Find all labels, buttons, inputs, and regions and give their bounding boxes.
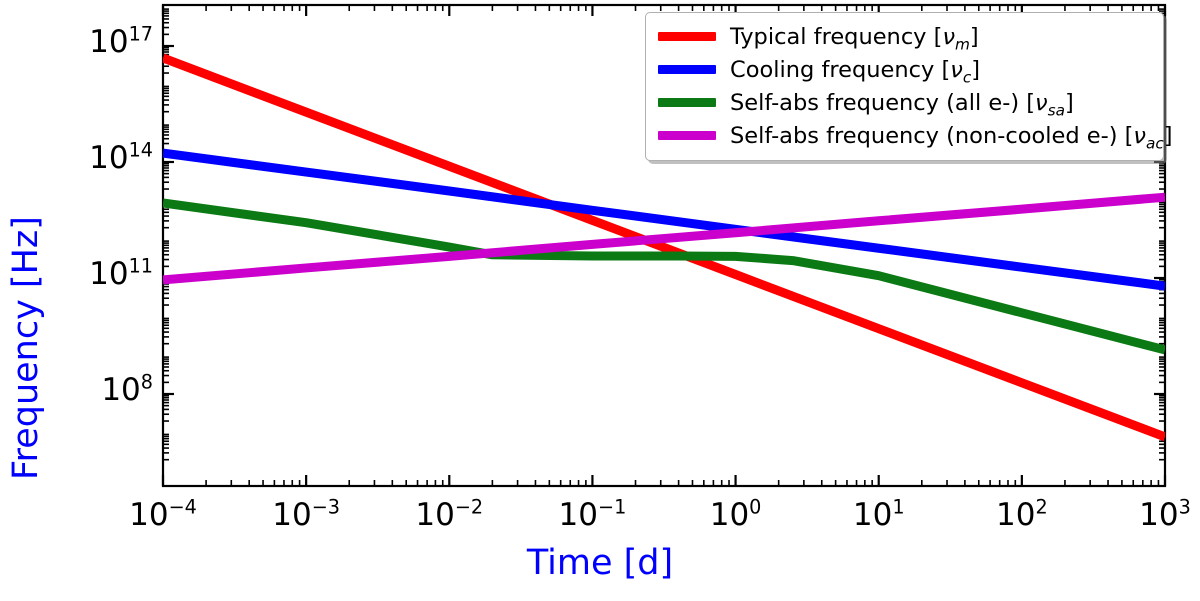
legend-label: Self-abs frequency (all e-) [νsa] [730,90,1074,116]
x-tick-label: 10−4 [123,497,203,533]
figure-canvas: 10−410−310−210−1100101102103 10171014101… [0,0,1200,601]
x-tick-label: 103 [1125,497,1200,533]
y-tick-label: 108 [55,372,153,408]
legend-label: Cooling frequency [νc] [730,57,980,83]
legend-color-swatch [658,131,716,140]
x-tick-label: 10−3 [266,497,346,533]
x-tick-label: 100 [696,497,776,533]
y-axis-label: Frequency [Hz] [6,216,46,480]
legend-entry: Typical frequency [νm] [658,20,1153,53]
x-tick-label: 101 [839,497,919,533]
y-tick-label: 1014 [55,140,153,176]
x-tick-label: 10−2 [409,497,489,533]
y-tick-label: 1011 [55,256,153,292]
x-tick-label: 102 [982,497,1062,533]
legend-label: Typical frequency [νm] [730,24,979,50]
legend-color-swatch [658,32,716,41]
legend-entry: Self-abs frequency (non-cooled e-) [νac] [658,119,1153,152]
legend-entry: Self-abs frequency (all e-) [νsa] [658,86,1153,119]
x-axis-label: Time [d] [0,543,1200,583]
x-tick-label: 10−1 [552,497,632,533]
legend-label: Self-abs frequency (non-cooled e-) [νac] [730,123,1173,149]
legend-color-swatch [658,65,716,74]
legend-entry: Cooling frequency [νc] [658,53,1153,86]
legend: Typical frequency [νm]Cooling frequency … [645,12,1164,161]
legend-color-swatch [658,98,716,107]
y-tick-label: 1017 [55,24,153,60]
